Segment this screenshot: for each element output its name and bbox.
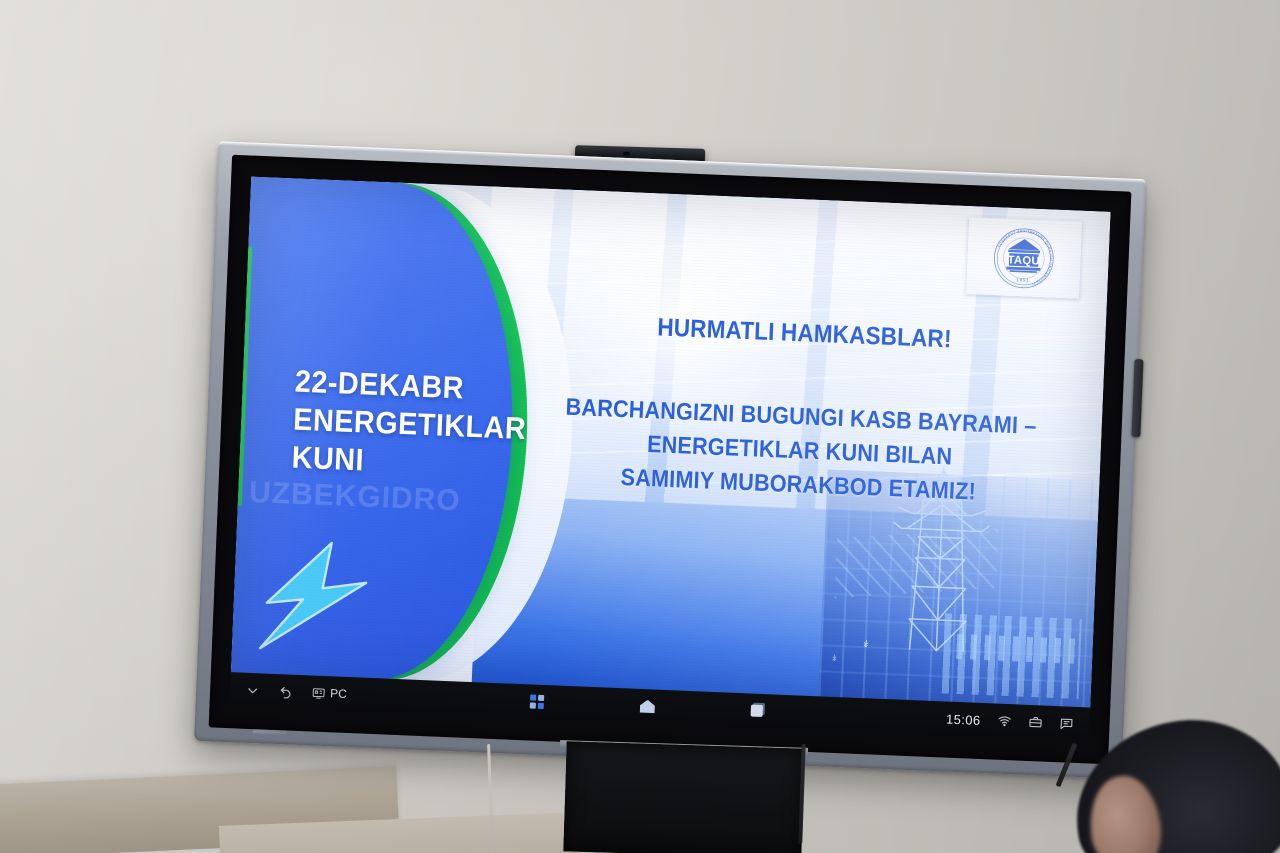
navbar-left-group: PC xyxy=(230,682,347,701)
interactive-display[interactable]: HIKVISION xyxy=(194,141,1146,779)
room-scene: HIKVISION xyxy=(0,0,1280,853)
toolbox-icon[interactable] xyxy=(1028,715,1043,730)
presentation-slide: ✈ ↡ ↡ UZBEKGIDRO xyxy=(231,177,1111,710)
wifi-icon[interactable] xyxy=(997,714,1012,729)
pc-label: PC xyxy=(330,686,347,701)
chevron-down-icon[interactable] xyxy=(246,683,260,697)
navbar-right-group: 15:06 xyxy=(946,711,1090,732)
lightning-bolt-icon xyxy=(248,535,383,660)
pc-source-button[interactable]: PC xyxy=(312,686,347,701)
recent-apps-icon[interactable] xyxy=(751,705,763,717)
camera-lens-icon xyxy=(623,152,630,156)
chat-icon[interactable] xyxy=(1059,716,1074,731)
svg-text:TAQU: TAQU xyxy=(1008,254,1041,267)
pc-icon xyxy=(312,686,326,700)
svg-text:1991: 1991 xyxy=(1017,277,1030,283)
display-bezel: ✈ ↡ ↡ UZBEKGIDRO xyxy=(209,155,1132,764)
screen-panel[interactable]: ✈ ↡ ↡ UZBEKGIDRO xyxy=(231,177,1111,710)
university-logo: TOSHKENT ARXITEKTURA QURILISH UNIVERSITE… xyxy=(966,217,1083,299)
slide-message: HURMATLI HAMKASBLAR! BARCHANGIZNI BUGUNG… xyxy=(522,308,1079,514)
av-cabinet xyxy=(563,741,804,853)
apps-grid-icon[interactable] xyxy=(530,694,545,709)
home-icon[interactable] xyxy=(640,699,656,713)
clock: 15:06 xyxy=(946,711,981,727)
back-arrow-icon[interactable] xyxy=(279,685,293,699)
